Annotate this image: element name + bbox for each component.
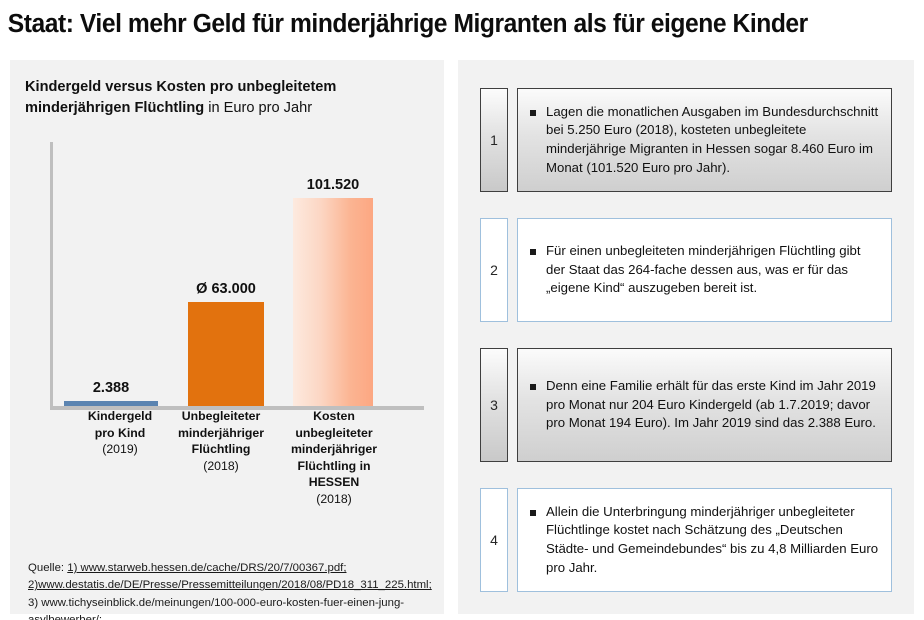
x-tick-year-0: (2019) [74,441,166,458]
x-axis-category-labels: Kindergeldpro Kind (2019) Unbegleiteterm… [28,408,428,528]
fact-text-3: Denn eine Familie erhält für das erste K… [546,377,881,433]
headline-bar: Staat: Viel mehr Geld für minderjährige … [0,0,924,48]
x-tick-name-1: UnbegleiteterminderjährigerFlüchtling [166,408,276,458]
bar-unbegleiteter-fluechtling: Ø 63.000 [188,302,264,406]
fact-body-4: Allein die Unterbringung minderjähriger … [517,488,892,592]
source-url-1[interactable]: 1) www.starweb.hessen.de/cache/DRS/20/7/… [67,562,346,574]
fact-number-2: 2 [480,218,508,322]
source-url-2[interactable]: 2)www.destatis.de/DE/Presse/Pressemittei… [28,577,436,594]
fact-row-2: 2 Für einen unbegleiteten minderjährigen… [480,218,892,322]
fact-number-4: 4 [480,488,508,592]
x-tick-label-2: KostenunbegleiteterminderjährigerFlüchtl… [276,408,392,507]
fact-number-1: 1 [480,88,508,192]
y-axis-line [50,142,53,408]
square-bullet-icon [530,384,536,390]
square-bullet-icon [530,510,536,516]
fact-row-1: 1 Lagen die monatlichen Ausgaben im Bund… [480,88,892,192]
fact-text-2: Für einen unbegleiteten minderjährigen F… [546,242,881,298]
bar-value-label-0: 2.388 [93,380,129,396]
source-line-0: Quelle: 1) www.starweb.hessen.de/cache/D… [28,560,436,577]
chart-title: Kindergeld versus Kosten pro unbegleitet… [25,77,425,119]
chart-title-normal: in Euro pro Jahr [204,100,312,116]
x-tick-year-2: (2018) [276,491,392,508]
fact-body-1: Lagen die monatlichen Ausgaben im Bundes… [517,88,892,192]
bar-kindergeld: 2.388 [64,401,158,406]
fact-row-3: 3 Denn eine Familie erhält für das erste… [480,348,892,462]
x-tick-name-2: KostenunbegleiteterminderjährigerFlüchtl… [276,408,392,491]
bar-value-label-2: 101.520 [307,177,359,193]
x-tick-year-1: (2018) [166,458,276,475]
fact-text-1: Lagen die monatlichen Ausgaben im Bundes… [546,103,881,177]
slide-canvas: Staat: Viel mehr Geld für minderjährige … [0,0,924,620]
bar-value-label-1: Ø 63.000 [196,281,256,297]
x-tick-label-1: UnbegleiteterminderjährigerFlüchtling (2… [166,408,276,474]
fact-body-2: Für einen unbegleiteten minderjährigen F… [517,218,892,322]
fact-body-3: Denn eine Familie erhält für das erste K… [517,348,892,462]
facts-panel: 1 Lagen die monatlichen Ausgaben im Bund… [458,60,914,614]
square-bullet-icon [530,110,536,116]
chart-panel: Kindergeld versus Kosten pro unbegleitet… [10,60,444,614]
page-title: Staat: Viel mehr Geld für minderjährige … [0,10,808,39]
bar-kosten-hessen: 101.520 [293,198,373,406]
fact-row-4: 4 Allein die Unterbringung minderjährige… [480,488,892,592]
source-note: Quelle: 1) www.starweb.hessen.de/cache/D… [28,560,436,620]
chart-plot-area: 2.388 Ø 63.000 101.520 [28,140,428,430]
x-tick-label-0: Kindergeldpro Kind (2019) [74,408,166,458]
source-url-3[interactable]: 3) www.tichyseinblick.de/meinungen/100-0… [28,595,436,620]
source-label: Quelle: [28,562,64,574]
x-tick-name-0: Kindergeldpro Kind [74,408,166,441]
fact-text-4: Allein die Unterbringung minderjähriger … [546,503,881,577]
square-bullet-icon [530,249,536,255]
fact-number-3: 3 [480,348,508,462]
